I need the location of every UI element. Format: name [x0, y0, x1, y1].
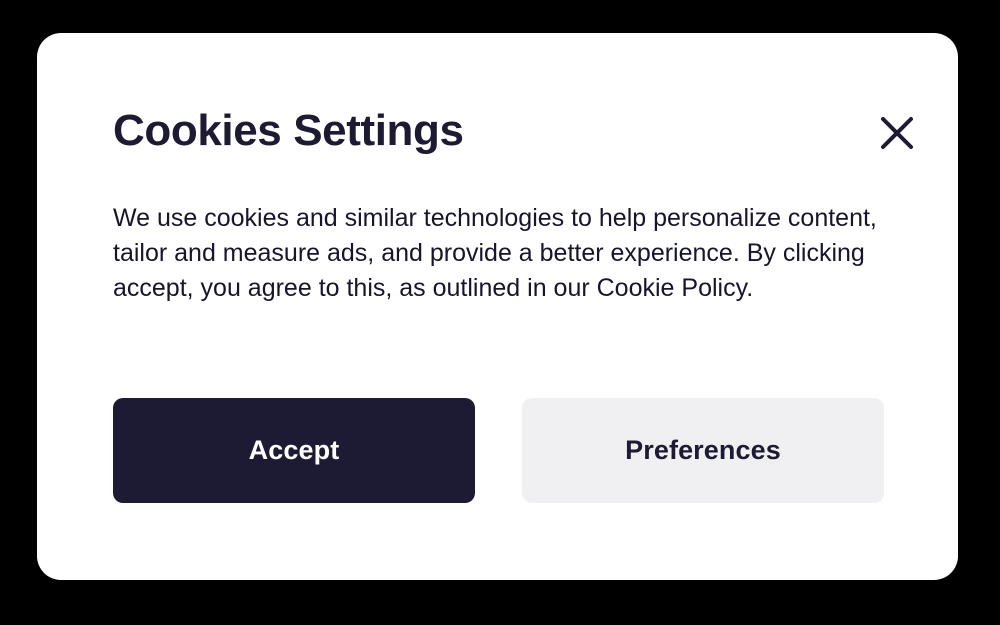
dialog-actions: Accept Preferences	[113, 398, 884, 503]
close-button[interactable]	[875, 111, 919, 155]
page-title: Cookies Settings	[113, 105, 464, 157]
preferences-button[interactable]: Preferences	[522, 398, 884, 503]
close-icon	[875, 111, 919, 155]
cookies-settings-dialog: Cookies Settings We use cookies and simi…	[37, 33, 958, 580]
dialog-description: We use cookies and similar technologies …	[113, 201, 903, 306]
accept-button[interactable]: Accept	[113, 398, 475, 503]
dialog-header: Cookies Settings	[113, 105, 919, 165]
page-background: Cookies Settings We use cookies and simi…	[0, 0, 1000, 625]
